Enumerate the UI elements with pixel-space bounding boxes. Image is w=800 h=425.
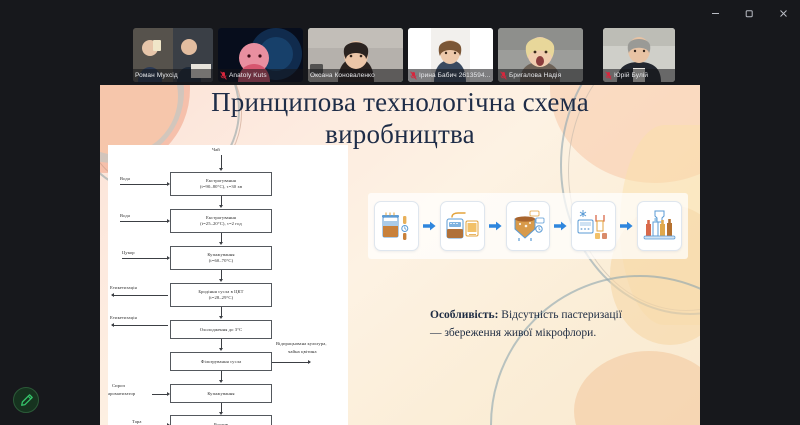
fermentation-vat-icon [509, 207, 547, 245]
annotate-pen-button[interactable] [13, 387, 39, 413]
flow-side-input: Етикетизація [110, 285, 137, 290]
process-steps-strip [368, 193, 688, 259]
process-arrow-icon [423, 221, 436, 231]
feature-text-line1: Відсутність пастеризації [498, 309, 622, 321]
mic-muted-icon [220, 71, 227, 80]
cooling-filter-icon [575, 207, 613, 245]
participant-namebar: Юрій Булій [603, 69, 675, 82]
flow-connector [120, 221, 168, 222]
flowchart-panel: Чай Екстрагування (t=90–80°C), τ=30 хв В… [108, 145, 348, 425]
mic-muted-icon [410, 71, 417, 80]
process-card [571, 201, 616, 251]
participant-tile-active-speaker[interactable]: Оксана Коноваленко [308, 28, 403, 82]
flow-step-box: Купажування (t=60–70°C) [170, 246, 272, 270]
flow-side-input: Тара [132, 419, 141, 424]
flow-side-input: Вода [120, 213, 130, 218]
decorative-circle [574, 351, 700, 425]
flow-arrowhead [111, 293, 114, 297]
flow-side-input: Вода [120, 176, 130, 181]
flow-step-line2: (t=25–20°C), τ=2 год [200, 221, 242, 227]
flow-arrowhead [219, 205, 223, 208]
flow-step-line1: Купажування [207, 391, 234, 397]
flow-arrowhead [219, 380, 223, 383]
participant-tile[interactable]: Anatoly Kuts [218, 28, 303, 82]
flow-arrowhead [219, 316, 223, 319]
flow-arrowhead [219, 279, 223, 282]
participant-namebar: Бригалова Надія [498, 69, 583, 82]
shared-slide[interactable]: Принципова технологічна схема виробництв… [100, 85, 700, 425]
participant-filmstrip: Роман Мухсід Anatoly Kuts [0, 28, 800, 84]
slide-title-line1: Принципова технологічна схема [211, 87, 589, 117]
process-arrow-icon [489, 221, 502, 231]
bottling-line-icon [641, 207, 679, 245]
slide-title: Принципова технологічна схема виробництв… [100, 87, 700, 151]
flow-step-box: Купажування [170, 384, 272, 403]
flow-side-input: Сироп [112, 383, 125, 388]
boiling-kettle-icon [443, 207, 481, 245]
process-card [506, 201, 551, 251]
flow-step-line1: Фільтрування сусла [201, 359, 242, 365]
flow-step-line2: (t=60–70°C) [209, 258, 233, 264]
feature-note: Особливість: Відсутність пастеризації — … [430, 307, 680, 343]
flow-side-input: Цукор [122, 250, 135, 255]
flow-connector [272, 362, 310, 363]
restore-icon[interactable] [732, 0, 766, 26]
feature-text-line2: — збереження живої мікрофлори. [430, 325, 680, 343]
window-titlebar [0, 0, 800, 26]
minimize-icon[interactable] [698, 0, 732, 26]
participant-namebar: Оксана Коноваленко [308, 69, 403, 82]
flow-step-box: Екстрагування (t=25–20°C), τ=2 год [170, 209, 272, 233]
flow-connector [112, 325, 168, 326]
participant-tile[interactable]: Бригалова Надія [498, 28, 583, 82]
flow-step-box: Екстрагування (t=90–80°C), τ=30 хв [170, 172, 272, 196]
extraction-tank-icon [377, 207, 415, 245]
flow-arrowhead [167, 182, 170, 186]
flow-step-line2: (t=90–80°C), τ=30 хв [200, 184, 242, 190]
participant-name: Бригалова Надія [509, 72, 561, 79]
process-arrow-icon [620, 221, 633, 231]
flow-arrowhead [167, 256, 170, 260]
mic-muted-icon [500, 71, 507, 80]
participant-namebar: Ірина Бабич 2613594... [408, 69, 493, 82]
flow-arrowhead [167, 219, 170, 223]
feature-label: Особливість: [430, 309, 498, 321]
flow-input-tea: Чай [212, 147, 220, 152]
flow-step-box: Бродіння сусла в ЦКТ (t=28–29°C) [170, 283, 272, 307]
flow-connector [120, 184, 168, 185]
flow-arrowhead [167, 392, 170, 396]
flow-side-output-line1: Відпрацьована культура, [276, 341, 327, 346]
process-card [440, 201, 485, 251]
process-card [374, 201, 419, 251]
flow-step-box: Охолодження до 3°C [170, 320, 272, 339]
participant-name: Anatoly Kuts [229, 72, 267, 79]
participant-tile[interactable]: Ірина Бабич 2613594... [408, 28, 493, 82]
flow-connector [221, 155, 222, 169]
flow-side-input: Етикетизація [110, 315, 137, 320]
process-arrow-icon [554, 221, 567, 231]
close-icon[interactable] [766, 0, 800, 26]
participant-tile[interactable]: Роман Мухсід [133, 28, 213, 82]
flow-step-box: Розлив [170, 415, 272, 425]
app-window: Роман Мухсід Anatoly Kuts [0, 0, 800, 425]
process-card [637, 201, 682, 251]
participant-name: Оксана Коноваленко [310, 72, 375, 79]
flow-arrowhead [219, 168, 223, 171]
participant-tile[interactable]: Юрій Булій [603, 28, 675, 82]
flow-step-line2: (t=28–29°C) [209, 295, 233, 301]
flow-connector [152, 394, 168, 395]
decorative-arc [490, 275, 700, 425]
participant-namebar: Роман Мухсід [133, 69, 213, 82]
flowchart: Чай Екстрагування (t=90–80°C), τ=30 хв В… [108, 145, 348, 425]
flow-step-line1: Розлив [214, 422, 228, 425]
participant-namebar: Anatoly Kuts [218, 69, 303, 82]
flow-arrowhead [111, 323, 114, 327]
mic-muted-icon [605, 71, 612, 80]
participant-name: Роман Мухсід [135, 72, 178, 79]
flow-connector [112, 295, 168, 296]
participant-name: Юрій Булій [614, 72, 648, 79]
flow-connector [122, 258, 168, 259]
participant-name: Ірина Бабич 2613594... [419, 72, 490, 79]
flow-arrowhead [219, 242, 223, 245]
flow-side-output-line2: чайна цвітина [288, 349, 317, 354]
flow-arrowhead [219, 348, 223, 351]
flow-step-line1: Охолодження до 3°C [200, 327, 243, 333]
flow-arrowhead [308, 360, 311, 364]
flow-step-box: Фільтрування сусла [170, 352, 272, 371]
annotate-pen-icon [19, 393, 34, 408]
flow-side-input: ароматизатор [108, 391, 135, 396]
